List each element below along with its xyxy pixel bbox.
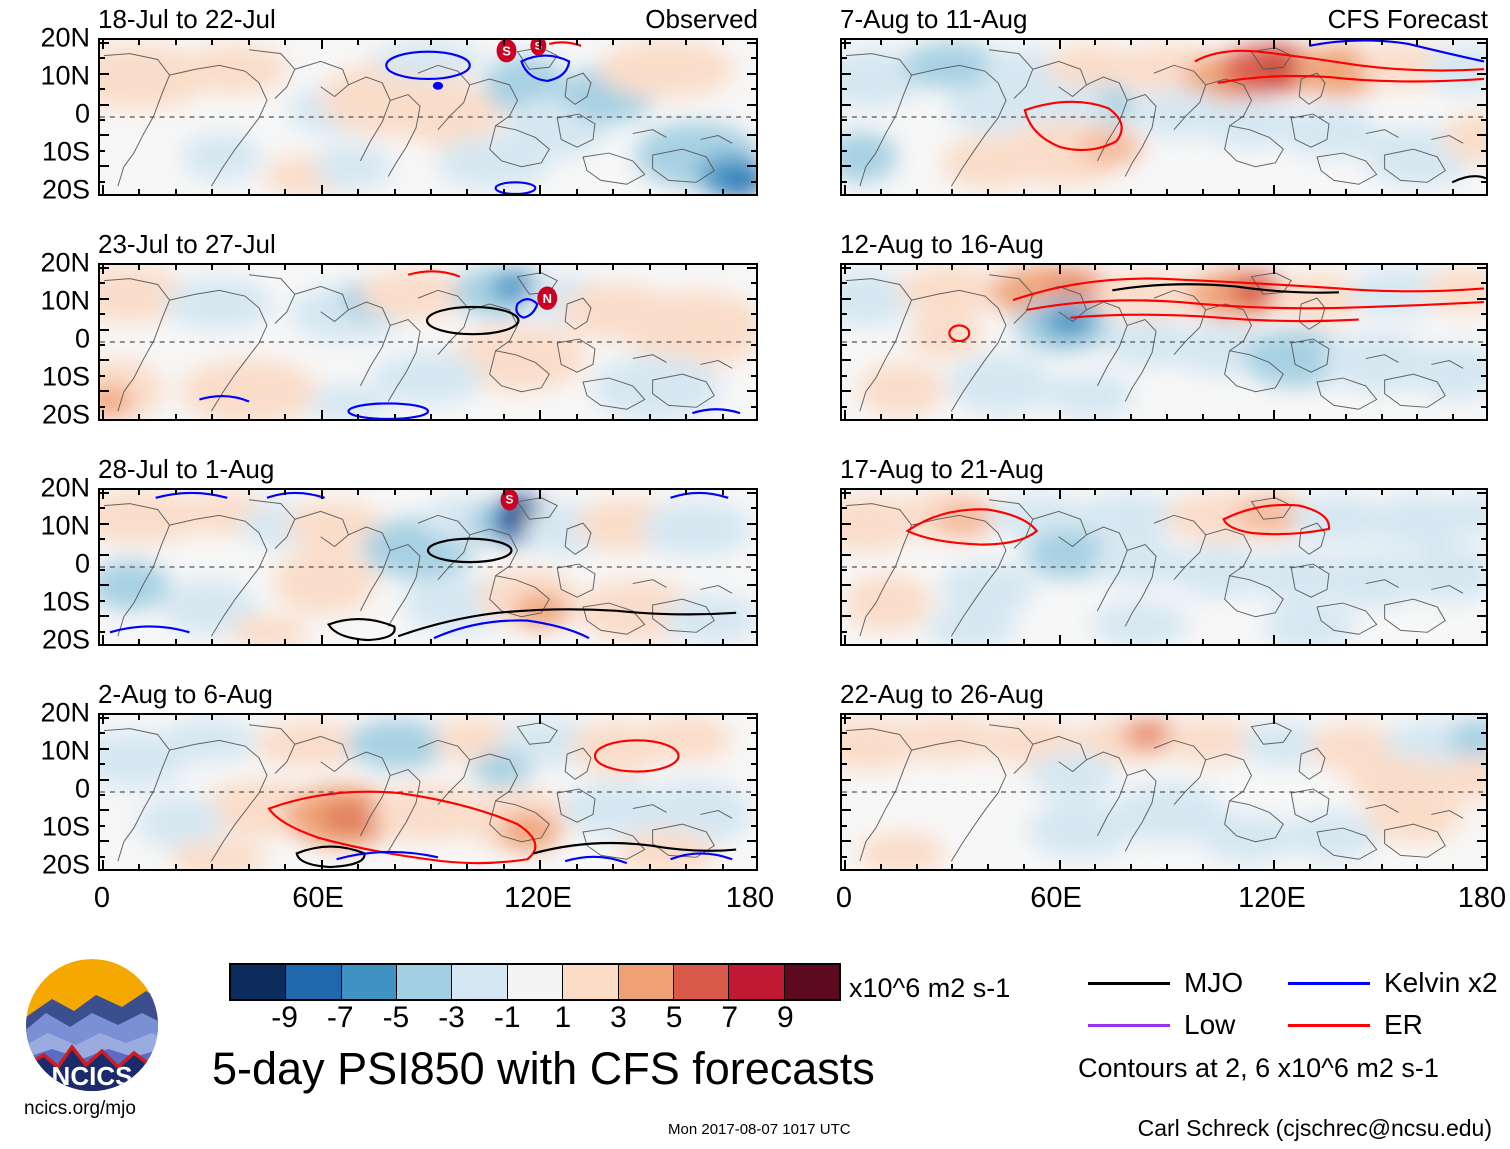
y-tick-mark	[100, 794, 105, 796]
y-tick-mark	[842, 57, 847, 59]
y-tick-mark	[842, 732, 847, 734]
y-tick-mark	[1481, 825, 1486, 827]
x-tick-mark	[1166, 414, 1168, 419]
map-frame	[840, 488, 1488, 646]
y-axis-labels-row0: 20N 10N 0 10S 20S	[0, 30, 90, 190]
y-tick-mark	[842, 150, 847, 152]
y-tick-mark	[100, 406, 105, 408]
y-tick-mark	[747, 523, 756, 525]
x-tick-mark	[722, 639, 724, 644]
x-tick-mark	[987, 414, 989, 419]
x-tick-mark	[1023, 40, 1025, 45]
x-tick-mark	[649, 189, 651, 194]
map-frame: S S	[98, 38, 758, 196]
x-tick-mark	[175, 189, 177, 194]
panel-observed-28jul-1aug[interactable]: 28-Jul to 1-Aug	[98, 456, 758, 646]
y-tick-mark	[842, 73, 851, 75]
x-tick-mark	[1309, 414, 1311, 419]
x-tick-mark	[916, 864, 918, 869]
y-tick-mark	[747, 359, 756, 361]
colorbar-tick--1: -1	[494, 1003, 521, 1033]
x-tick-mark	[722, 864, 724, 869]
x-tick-mark	[1059, 40, 1061, 49]
x-tick-mark	[1452, 490, 1454, 495]
x-tick-mark	[1238, 490, 1240, 495]
y-tick-mark	[751, 763, 756, 765]
x-tick-mark	[1309, 639, 1311, 644]
x-tick-mark	[430, 40, 432, 45]
y-tick-20N: 20N	[40, 475, 90, 502]
map-frame	[98, 713, 758, 871]
x-tick-mark	[1381, 265, 1383, 270]
x-tick-mark	[685, 40, 687, 45]
x-tick-mark	[1130, 864, 1132, 869]
x-tick-mark	[916, 189, 918, 194]
panel-title: 23-Jul to 27-Jul	[98, 231, 276, 257]
y-tick-mark	[842, 538, 847, 540]
y-tick-mark	[100, 717, 109, 719]
x-tick-mark	[466, 490, 468, 495]
y-tick-mark	[1477, 584, 1486, 586]
x-tick-mark	[1238, 864, 1240, 869]
x-tick-mark	[466, 414, 468, 419]
tc-marker-group: N	[537, 286, 557, 309]
y-tick-mark	[747, 809, 756, 811]
x-tick-mark	[612, 639, 614, 644]
x-tick-mark	[722, 189, 724, 194]
x-tick-mark	[1166, 40, 1168, 45]
y-tick-mark	[842, 631, 847, 633]
x-tick-mark	[987, 639, 989, 644]
mjo-line-swatch	[1088, 982, 1170, 985]
y-tick-mark	[747, 492, 756, 494]
x-tick-mark	[466, 40, 468, 45]
panel-forecast-12aug-16aug[interactable]: 12-Aug to 16-Aug	[840, 231, 1488, 421]
x-tick-mark	[1416, 490, 1418, 495]
x-tick-mark	[916, 414, 918, 419]
y-tick-mark	[751, 600, 756, 602]
x-tick-mark	[1273, 860, 1275, 869]
x-tick-mark	[951, 715, 953, 720]
y-tick-mark	[747, 42, 756, 44]
x-tick-mark	[539, 410, 541, 419]
legend-item-mjo[interactable]: MJO	[1088, 969, 1288, 997]
x-tick-mark	[649, 40, 651, 45]
x-tick-mark	[430, 715, 432, 720]
x-tick-mark	[357, 189, 359, 194]
x-tick-mark	[1452, 715, 1454, 720]
x-tick-mark	[175, 715, 177, 720]
x-tick-mark	[987, 189, 989, 194]
y-tick-mark	[1477, 329, 1486, 331]
x-tick-mark	[321, 860, 323, 869]
y-tick-mark	[842, 282, 847, 284]
y-axis-labels-row2: 20N 10N 0 10S 20S	[0, 480, 90, 640]
x-tick-mark	[1202, 265, 1204, 270]
y-tick-mark	[747, 748, 756, 750]
y-tick-mark	[1481, 313, 1486, 315]
x-tick-mark	[503, 414, 505, 419]
x-tick-mark	[394, 715, 396, 720]
y-tick-mark	[747, 584, 756, 586]
colorbar	[229, 963, 841, 1001]
y-tick-mark	[842, 344, 847, 346]
legend-label-mjo: MJO	[1184, 969, 1243, 997]
x-tick-mark	[612, 490, 614, 495]
y-tick-mark	[842, 492, 851, 494]
panel-forecast-17aug-21aug[interactable]: 17-Aug to 21-Aug	[840, 456, 1488, 646]
y-tick-mark	[100, 538, 105, 540]
colorbar-tick--3: -3	[438, 1003, 465, 1033]
y-tick-mark	[1481, 88, 1486, 90]
x-tick-mark	[1345, 715, 1347, 720]
y-tick-mark	[1477, 492, 1486, 494]
x-tick-mark	[1416, 189, 1418, 194]
colorbar-tick--5: -5	[383, 1003, 410, 1033]
x-tick-mark	[987, 40, 989, 45]
y-tick-mark	[1481, 794, 1486, 796]
x-tick-mark	[844, 410, 846, 419]
panel-observed-18jul-22jul[interactable]: 18-Jul to 22-Jul Observed	[98, 6, 758, 196]
y-tick-mark	[751, 631, 756, 633]
y-tick-mark	[1477, 840, 1486, 842]
y-tick-mark	[842, 763, 847, 765]
x-tick-mark	[175, 40, 177, 45]
x-tick-mark	[503, 715, 505, 720]
y-tick-0: 0	[75, 101, 90, 128]
ncics-logo-block[interactable]: NCICS ncics.org/mjo	[22, 955, 182, 1118]
y-axis-labels-row3: 20N 10N 0 10S 20S	[0, 705, 90, 865]
legend-item-kelvin[interactable]: Kelvin x2	[1288, 969, 1488, 997]
x-tick-mark	[576, 864, 578, 869]
y-tick-0: 0	[75, 551, 90, 578]
x-tick-mark	[1094, 40, 1096, 45]
y-tick-mark	[1481, 406, 1486, 408]
x-tick-mark	[1094, 265, 1096, 270]
colorbar-tick--7: -7	[327, 1003, 354, 1033]
panel-forecast-22aug-26aug[interactable]: 22-Aug to 26-Aug	[840, 681, 1488, 871]
map-frame	[840, 38, 1488, 196]
x-tick-mark	[248, 40, 250, 45]
x-tick-mark	[357, 265, 359, 270]
y-tick-mark	[751, 507, 756, 509]
x-tick-mark	[880, 414, 882, 419]
map-canvas	[842, 265, 1486, 419]
x-tick-mark	[248, 490, 250, 495]
x-tick-mark	[1166, 189, 1168, 194]
y-tick-mark	[100, 584, 109, 586]
x-tick-mark	[321, 185, 323, 194]
x-tick-mark	[466, 715, 468, 720]
y-tick-20N: 20N	[40, 700, 90, 727]
x-tick-mark	[1059, 265, 1061, 274]
x-tick-mark	[1381, 40, 1383, 45]
x-tick-mark	[649, 864, 651, 869]
y-tick-mark	[747, 73, 756, 75]
y-tick-mark	[1481, 732, 1486, 734]
x-tick-mark	[466, 864, 468, 869]
x-tick-mark	[1023, 414, 1025, 419]
x-tick-mark	[880, 490, 882, 495]
x-tick-mark	[248, 414, 250, 419]
y-tick-mark	[1477, 390, 1486, 392]
y-tick-mark	[842, 825, 847, 827]
y-tick-mark	[747, 134, 756, 136]
y-tick-mark	[842, 134, 851, 136]
y-tick-mark	[1477, 42, 1486, 44]
y-tick-mark	[100, 119, 105, 121]
panel-observed-2aug-6aug[interactable]: 2-Aug to 6-Aug	[98, 681, 758, 871]
panel-corner-label: Observed	[645, 6, 758, 32]
panel-title: 18-Jul to 22-Jul	[98, 6, 276, 32]
x-tick-mark	[1238, 639, 1240, 644]
y-tick-mark	[842, 584, 851, 586]
y-tick-mark	[842, 181, 847, 183]
x-tick-mark	[1094, 490, 1096, 495]
y-tick-mark	[747, 615, 756, 617]
y-tick-mark	[1477, 359, 1486, 361]
y-tick-mark	[100, 88, 105, 90]
y-tick-mark	[100, 600, 105, 602]
x-tick-mark	[1238, 414, 1240, 419]
x-tick-mark	[1309, 189, 1311, 194]
x-tick-mark	[430, 189, 432, 194]
y-tick-mark	[842, 600, 847, 602]
x-tick-mark	[685, 189, 687, 194]
x-tick-mark	[880, 265, 882, 270]
y-tick-mark	[842, 390, 851, 392]
x-tick-mark	[539, 265, 541, 274]
y-tick-mark	[842, 840, 851, 842]
x-tick-180: 180	[1458, 884, 1506, 913]
x-tick-mark	[1381, 715, 1383, 720]
ncics-url[interactable]: ncics.org/mjo	[22, 1099, 182, 1118]
legend-label-low: Low	[1184, 1011, 1235, 1039]
y-tick-mark	[1477, 717, 1486, 719]
legend-item-er[interactable]: ER	[1288, 1011, 1488, 1039]
x-tick-mark	[1023, 490, 1025, 495]
y-tick-mark	[842, 359, 851, 361]
y-tick-mark	[1477, 523, 1486, 525]
x-tick-mark	[1202, 414, 1204, 419]
x-tick-mark	[211, 40, 213, 45]
x-tick-mark	[1309, 40, 1311, 45]
x-tick-mark	[211, 715, 213, 720]
svg-text:S: S	[506, 493, 514, 507]
x-tick-mark	[357, 40, 359, 45]
y-tick-mark	[1477, 134, 1486, 136]
x-tick-mark	[685, 265, 687, 270]
y-tick-mark	[100, 313, 105, 315]
x-tick-mark	[612, 189, 614, 194]
y-tick-mark	[842, 329, 851, 331]
x-tick-mark	[1130, 490, 1132, 495]
x-tick-mark	[1416, 639, 1418, 644]
x-tick-mark	[1166, 864, 1168, 869]
y-tick-mark	[100, 615, 109, 617]
y-tick-mark	[747, 298, 756, 300]
map-canvas	[842, 490, 1486, 644]
x-tick-mark	[102, 410, 104, 419]
x-tick-mark	[394, 189, 396, 194]
y-tick-mark	[1477, 298, 1486, 300]
x-tick-mark	[880, 189, 882, 194]
x-tick-mark	[284, 639, 286, 644]
x-tick-mark	[466, 639, 468, 644]
x-tick-mark	[138, 490, 140, 495]
colorbar-block: -9-7-5-3-113579	[229, 963, 841, 1037]
y-tick-mark	[1481, 856, 1486, 858]
x-tick-mark	[844, 635, 846, 644]
y-tick-mark	[842, 554, 851, 556]
y-tick-mark	[751, 57, 756, 59]
x-tick-mark	[1452, 265, 1454, 270]
y-tick-mark	[100, 732, 105, 734]
x-tick-mark	[357, 864, 359, 869]
x-tick-mark	[1381, 414, 1383, 419]
legend-item-low[interactable]: Low	[1088, 1011, 1288, 1039]
x-tick-mark	[649, 490, 651, 495]
er-line-swatch	[1288, 1024, 1370, 1027]
y-tick-mark	[100, 779, 109, 781]
x-tick-mark	[102, 860, 104, 869]
y-tick-10N: 10N	[40, 288, 90, 315]
y-tick-mark	[747, 104, 756, 106]
y-tick-mark	[1477, 73, 1486, 75]
map-canvas	[100, 715, 756, 869]
colorbar-segment-4	[452, 965, 507, 999]
x-tick-0: 0	[836, 884, 852, 913]
x-tick-mark	[685, 864, 687, 869]
x-tick-mark	[466, 265, 468, 270]
x-tick-mark	[1452, 414, 1454, 419]
y-tick-mark	[751, 794, 756, 796]
x-tick-mark	[722, 490, 724, 495]
panel-title: 7-Aug to 11-Aug	[840, 6, 1027, 32]
colorbar-tick-labels: -9-7-5-3-113579	[229, 1001, 841, 1037]
x-tick-mark	[1452, 864, 1454, 869]
x-tick-mark	[1202, 189, 1204, 194]
x-tick-mark	[1059, 185, 1061, 194]
y-tick-mark	[100, 554, 109, 556]
y-tick-20S: 20S	[42, 627, 90, 654]
x-tick-mark	[1238, 715, 1240, 720]
x-tick-mark	[987, 265, 989, 270]
x-tick-mark	[1345, 864, 1347, 869]
y-tick-mark	[1481, 569, 1486, 571]
x-tick-mark	[248, 864, 250, 869]
colorbar-tick-1: 1	[554, 1003, 571, 1033]
x-tick-mark	[722, 715, 724, 720]
colorbar-tick-9: 9	[777, 1003, 794, 1033]
y-tick-20N: 20N	[40, 250, 90, 277]
x-tick-mark	[211, 639, 213, 644]
x-tick-mark	[394, 639, 396, 644]
map-canvas	[842, 40, 1486, 194]
x-tick-mark	[248, 265, 250, 270]
x-tick-mark	[1416, 265, 1418, 270]
x-tick-mark	[248, 715, 250, 720]
y-tick-mark	[842, 794, 847, 796]
x-tick-mark	[649, 414, 651, 419]
y-tick-mark	[100, 73, 109, 75]
x-tick-mark	[321, 635, 323, 644]
x-tick-mark	[1345, 40, 1347, 45]
x-axis-right: 0 60E 120E 180	[840, 884, 1488, 924]
x-tick-mark	[1166, 490, 1168, 495]
colorbar-tick-7: 7	[721, 1003, 738, 1033]
y-tick-mark	[842, 313, 847, 315]
svg-text:N: N	[543, 291, 552, 306]
map-frame: N	[98, 263, 758, 421]
y-tick-mark	[751, 344, 756, 346]
x-tick-mark	[1094, 189, 1096, 194]
x-tick-mark	[1238, 40, 1240, 45]
colorbar-segment-2	[342, 965, 397, 999]
x-tick-mark	[649, 639, 651, 644]
colorbar-segment-7	[619, 965, 674, 999]
svg-text:NCICS: NCICS	[52, 1061, 133, 1091]
x-tick-mark	[321, 410, 323, 419]
panel-forecast-7aug-11aug[interactable]: 7-Aug to 11-Aug CFS Forecast	[840, 6, 1488, 196]
y-tick-mark	[842, 809, 851, 811]
x-tick-mark	[138, 715, 140, 720]
x-tick-mark	[1238, 189, 1240, 194]
y-tick-mark	[751, 88, 756, 90]
x-tick-mark	[649, 715, 651, 720]
panel-observed-23jul-27jul[interactable]: 23-Jul to 27-Jul	[98, 231, 758, 421]
x-tick-mark	[1273, 635, 1275, 644]
panel-grid: 20N 10N 0 10S 20S 20N 10N 0 10S 20S 20N …	[0, 0, 1510, 930]
x-tick-mark	[1059, 860, 1061, 869]
y-tick-mark	[100, 569, 105, 571]
y-tick-mark	[1481, 507, 1486, 509]
y-tick-mark	[100, 104, 109, 106]
y-tick-mark	[100, 856, 105, 858]
x-tick-mark	[951, 414, 953, 419]
x-tick-mark	[576, 490, 578, 495]
y-tick-mark	[751, 825, 756, 827]
colorbar-tick-5: 5	[666, 1003, 683, 1033]
x-tick-mark	[722, 40, 724, 45]
contour-legend: MJO Kelvin x2 Low ER	[1088, 962, 1488, 1046]
y-tick-mark	[842, 507, 847, 509]
x-tick-mark	[1094, 639, 1096, 644]
x-tick-mark	[916, 639, 918, 644]
x-tick-mark	[138, 189, 140, 194]
kelvin-line-swatch	[1288, 982, 1370, 985]
map-canvas: N	[100, 265, 756, 419]
x-tick-120E: 120E	[1238, 884, 1306, 913]
y-tick-mark	[1481, 181, 1486, 183]
panel-title: 12-Aug to 16-Aug	[840, 231, 1044, 257]
x-tick-mark	[1452, 40, 1454, 45]
y-tick-mark	[842, 748, 851, 750]
colorbar-segment-6	[563, 965, 618, 999]
x-tick-mark	[1309, 490, 1311, 495]
x-tick-mark	[1416, 40, 1418, 45]
y-tick-10S: 10S	[42, 589, 90, 616]
x-tick-mark	[102, 185, 104, 194]
x-tick-mark	[321, 715, 323, 724]
x-tick-mark	[138, 40, 140, 45]
map-canvas: S S	[100, 40, 756, 194]
y-tick-mark	[751, 375, 756, 377]
x-tick-mark	[466, 189, 468, 194]
x-tick-mark	[1023, 715, 1025, 720]
y-tick-mark	[100, 150, 105, 152]
y-tick-mark	[751, 282, 756, 284]
